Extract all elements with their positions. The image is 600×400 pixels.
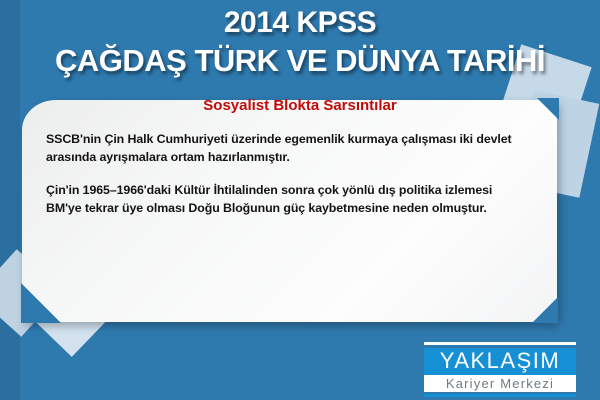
panel-corner-bottom-right bbox=[532, 297, 558, 323]
slide-subtitle: Sosyalist Blokta Sarsıntılar bbox=[0, 76, 600, 113]
content-panel: SSCB'nin Çin Halk Cumhuriyeti üzerinde e… bbox=[22, 100, 557, 322]
logo-brand-text: YAKLAŞIM bbox=[424, 350, 576, 372]
logo-brand-box: YAKLAŞIM bbox=[424, 348, 576, 375]
logo-top-rule bbox=[424, 342, 576, 345]
logo-tagline-box: Kariyer Merkezi bbox=[424, 375, 576, 392]
paragraph: Çin'in 1965–1966'daki Kültür İhtilalinde… bbox=[46, 181, 528, 217]
slide-header: 2014 KPSS ÇAĞDAŞ TÜRK VE DÜNYA TARİHİ So… bbox=[0, 0, 600, 118]
yaklasim-logo: YAKLAŞIM Kariyer Merkezi bbox=[424, 342, 576, 397]
title-line-2: ÇAĞDAŞ TÜRK VE DÜNYA TARİHİ bbox=[0, 38, 600, 76]
logo-tagline-text: Kariyer Merkezi bbox=[424, 377, 576, 390]
logo-bottom-rule bbox=[424, 394, 576, 397]
paragraph: SSCB'nin Çin Halk Cumhuriyeti üzerinde e… bbox=[46, 130, 528, 166]
body-text: SSCB'nin Çin Halk Cumhuriyeti üzerinde e… bbox=[46, 130, 528, 217]
slide-canvas: 2014 KPSS ÇAĞDAŞ TÜRK VE DÜNYA TARİHİ So… bbox=[0, 0, 600, 400]
title-line-1: 2014 KPSS bbox=[0, 0, 600, 38]
panel-corner-bottom-left bbox=[21, 283, 61, 323]
